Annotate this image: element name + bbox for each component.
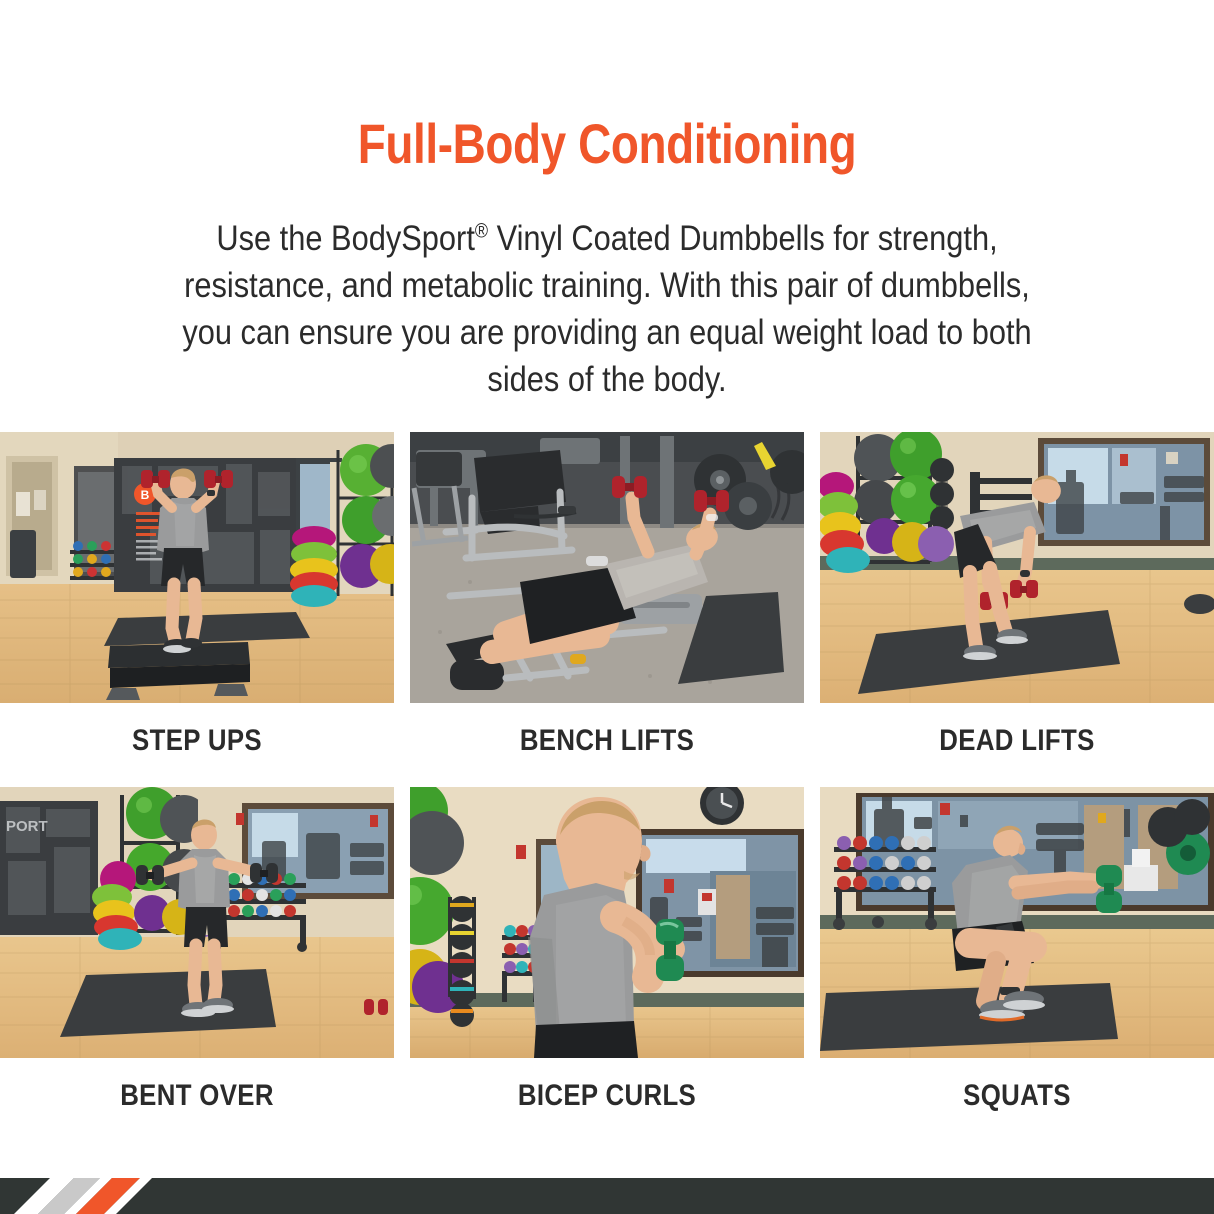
exercise-grid: B bbox=[0, 432, 1214, 1142]
photo-step-ups: B bbox=[0, 432, 394, 703]
svg-text:B: B bbox=[141, 488, 150, 502]
caption-bench-lifts: BENCH LIFTS bbox=[438, 724, 777, 758]
exercise-card-bent-over[interactable]: PORT bbox=[0, 787, 394, 1113]
exercise-row-1: B bbox=[0, 432, 1214, 787]
page-title: Full-Body Conditioning bbox=[109, 116, 1104, 172]
exercise-card-bicep-curls[interactable]: BICEP CURLS bbox=[410, 787, 804, 1113]
photo-bench-lifts bbox=[410, 432, 804, 703]
caption-bicep-curls: BICEP CURLS bbox=[438, 1079, 777, 1113]
intro-paragraph: Use the BodySport® Vinyl Coated Dumbbell… bbox=[156, 215, 1057, 403]
caption-squats: SQUATS bbox=[848, 1079, 1187, 1113]
caption-step-ups: STEP UPS bbox=[28, 724, 367, 758]
exercise-card-bench-lifts[interactable]: BENCH LIFTS bbox=[410, 432, 804, 758]
photo-squats bbox=[820, 787, 1214, 1058]
caption-dead-lifts: DEAD LIFTS bbox=[848, 724, 1187, 758]
bottom-accent-bar bbox=[0, 1178, 1214, 1214]
photo-dead-lifts bbox=[820, 432, 1214, 703]
registered-mark: ® bbox=[475, 220, 488, 242]
poster-page: Full-Body Conditioning Use the BodySport… bbox=[0, 0, 1214, 1214]
svg-text:PORT: PORT bbox=[6, 818, 48, 835]
intro-text-before: Use the BodySport bbox=[216, 219, 475, 258]
exercise-row-2: PORT bbox=[0, 787, 1214, 1142]
caption-bent-over: BENT OVER bbox=[28, 1079, 367, 1113]
exercise-card-dead-lifts[interactable]: DEAD LIFTS bbox=[820, 432, 1214, 758]
exercise-card-step-ups[interactable]: B bbox=[0, 432, 394, 758]
accent-stripes bbox=[0, 1178, 1214, 1214]
photo-bent-over: PORT bbox=[0, 787, 394, 1058]
exercise-card-squats[interactable]: SQUATS bbox=[820, 787, 1214, 1113]
photo-bicep-curls bbox=[410, 787, 804, 1058]
